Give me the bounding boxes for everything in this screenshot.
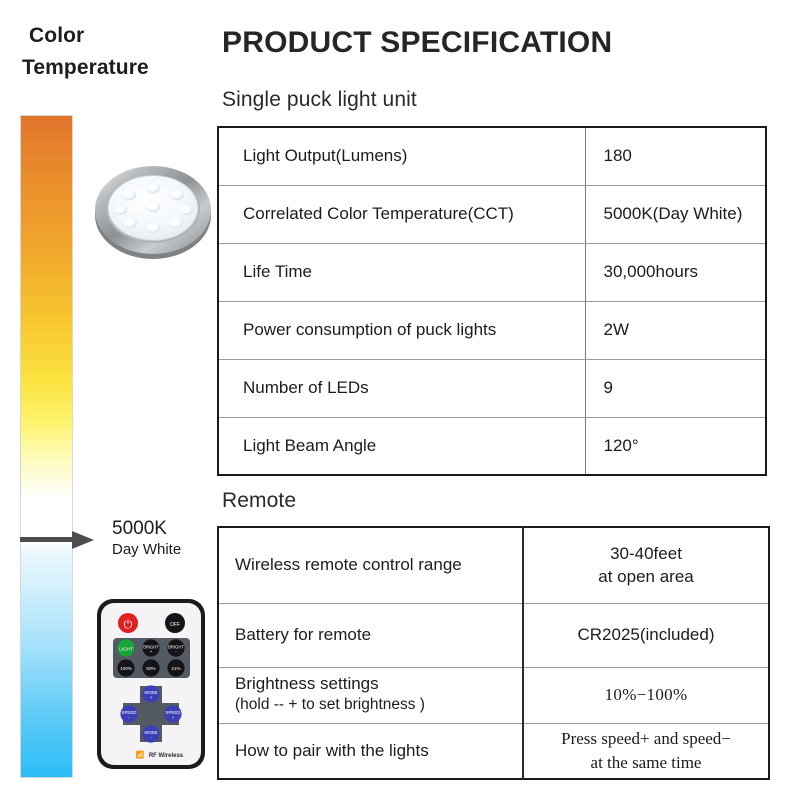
svg-text:📶: 📶 xyxy=(136,750,145,759)
table-row: Brightness settings (hold -- + to set br… xyxy=(218,667,769,723)
remote-key: Wireless remote control range xyxy=(218,527,523,603)
arrow-head xyxy=(72,531,94,549)
svg-text:+: + xyxy=(150,695,153,700)
remote-key-sub: (hold -- + to set brightness ) xyxy=(235,694,522,716)
svg-text:21%: 21% xyxy=(171,666,180,671)
remote-value: Press speed+ and speed− at the same time xyxy=(523,723,769,779)
remote-control-image: ⏻ OFF LIGHT BRIGHT + BRIGHT - 100% 50% 2… xyxy=(94,596,208,772)
puck-light-image xyxy=(92,152,214,264)
table-row: Light Output(Lumens) 180 xyxy=(218,127,766,185)
color-temperature-marker-label: 5000K Day White xyxy=(112,518,181,560)
spec-key: Number of LEDs xyxy=(218,359,585,417)
spec-key: Life Time xyxy=(218,243,585,301)
svg-text:⏻: ⏻ xyxy=(124,618,133,631)
spec-value: 120° xyxy=(585,417,766,475)
remote-value-line2: at the same time xyxy=(530,751,762,775)
remote-value-line1: 30-40feet xyxy=(530,542,762,565)
table-row: How to pair with the lights Press speed+… xyxy=(218,723,769,779)
table-row: Power consumption of puck lights 2W xyxy=(218,301,766,359)
remote-value-line2: at open area xyxy=(530,565,762,588)
remote-key-main: Brightness settings xyxy=(235,674,379,693)
svg-text:RF Wireless: RF Wireless xyxy=(149,753,184,759)
marker-value: 5000K xyxy=(112,518,181,540)
table-row: Wireless remote control range 30-40feet … xyxy=(218,527,769,603)
svg-text:OFF: OFF xyxy=(170,622,180,628)
remote-key: Brightness settings (hold -- + to set br… xyxy=(218,667,523,723)
spec-key: Light Output(Lumens) xyxy=(218,127,585,185)
svg-text:LIGHT: LIGHT xyxy=(119,646,133,651)
spec-key: Light Beam Angle xyxy=(218,417,585,475)
spec-value: 180 xyxy=(585,127,766,185)
spec-key: Correlated Color Temperature(CCT) xyxy=(218,185,585,243)
marker-sublabel: Day White xyxy=(112,540,181,560)
color-temperature-heading: Color Temperature xyxy=(22,20,207,84)
spec-section-subtitle: Single puck light unit xyxy=(222,88,417,112)
remote-value: CR2025(included) xyxy=(523,603,769,667)
color-temperature-heading-line2: Temperature xyxy=(22,52,207,84)
product-specification-page: Color Temperature 5000K Day White xyxy=(0,0,800,800)
table-row: Number of LEDs 9 xyxy=(218,359,766,417)
remote-key: Battery for remote xyxy=(218,603,523,667)
table-row: Correlated Color Temperature(CCT) 5000K(… xyxy=(218,185,766,243)
spec-value: 2W xyxy=(585,301,766,359)
spec-value: 30,000hours xyxy=(585,243,766,301)
spec-key: Power consumption of puck lights xyxy=(218,301,585,359)
color-temperature-gradient-bar xyxy=(20,115,73,778)
remote-value: 10%−100% xyxy=(523,667,769,723)
svg-text:+: + xyxy=(172,715,175,720)
table-row: Life Time 30,000hours xyxy=(218,243,766,301)
remote-spec-table: Wireless remote control range 30-40feet … xyxy=(217,526,770,780)
single-puck-light-spec-table: Light Output(Lumens) 180 Correlated Colo… xyxy=(217,126,767,476)
remote-value-line1: Press speed+ and speed− xyxy=(530,727,762,751)
arrow-shaft xyxy=(20,537,78,542)
remote-section-heading: Remote xyxy=(222,489,296,513)
table-row: Battery for remote CR2025(included) xyxy=(218,603,769,667)
spec-value: 9 xyxy=(585,359,766,417)
spec-value: 5000K(Day White) xyxy=(585,185,766,243)
svg-text:50%: 50% xyxy=(146,666,155,671)
color-temperature-heading-line1: Color xyxy=(22,20,207,52)
remote-key: How to pair with the lights xyxy=(218,723,523,779)
remote-value: 30-40feet at open area xyxy=(523,527,769,603)
page-title: PRODUCT SPECIFICATION xyxy=(222,26,612,60)
table-row: Light Beam Angle 120° xyxy=(218,417,766,475)
color-temperature-marker-arrow-icon xyxy=(20,531,100,549)
svg-text:100%: 100% xyxy=(120,666,132,671)
